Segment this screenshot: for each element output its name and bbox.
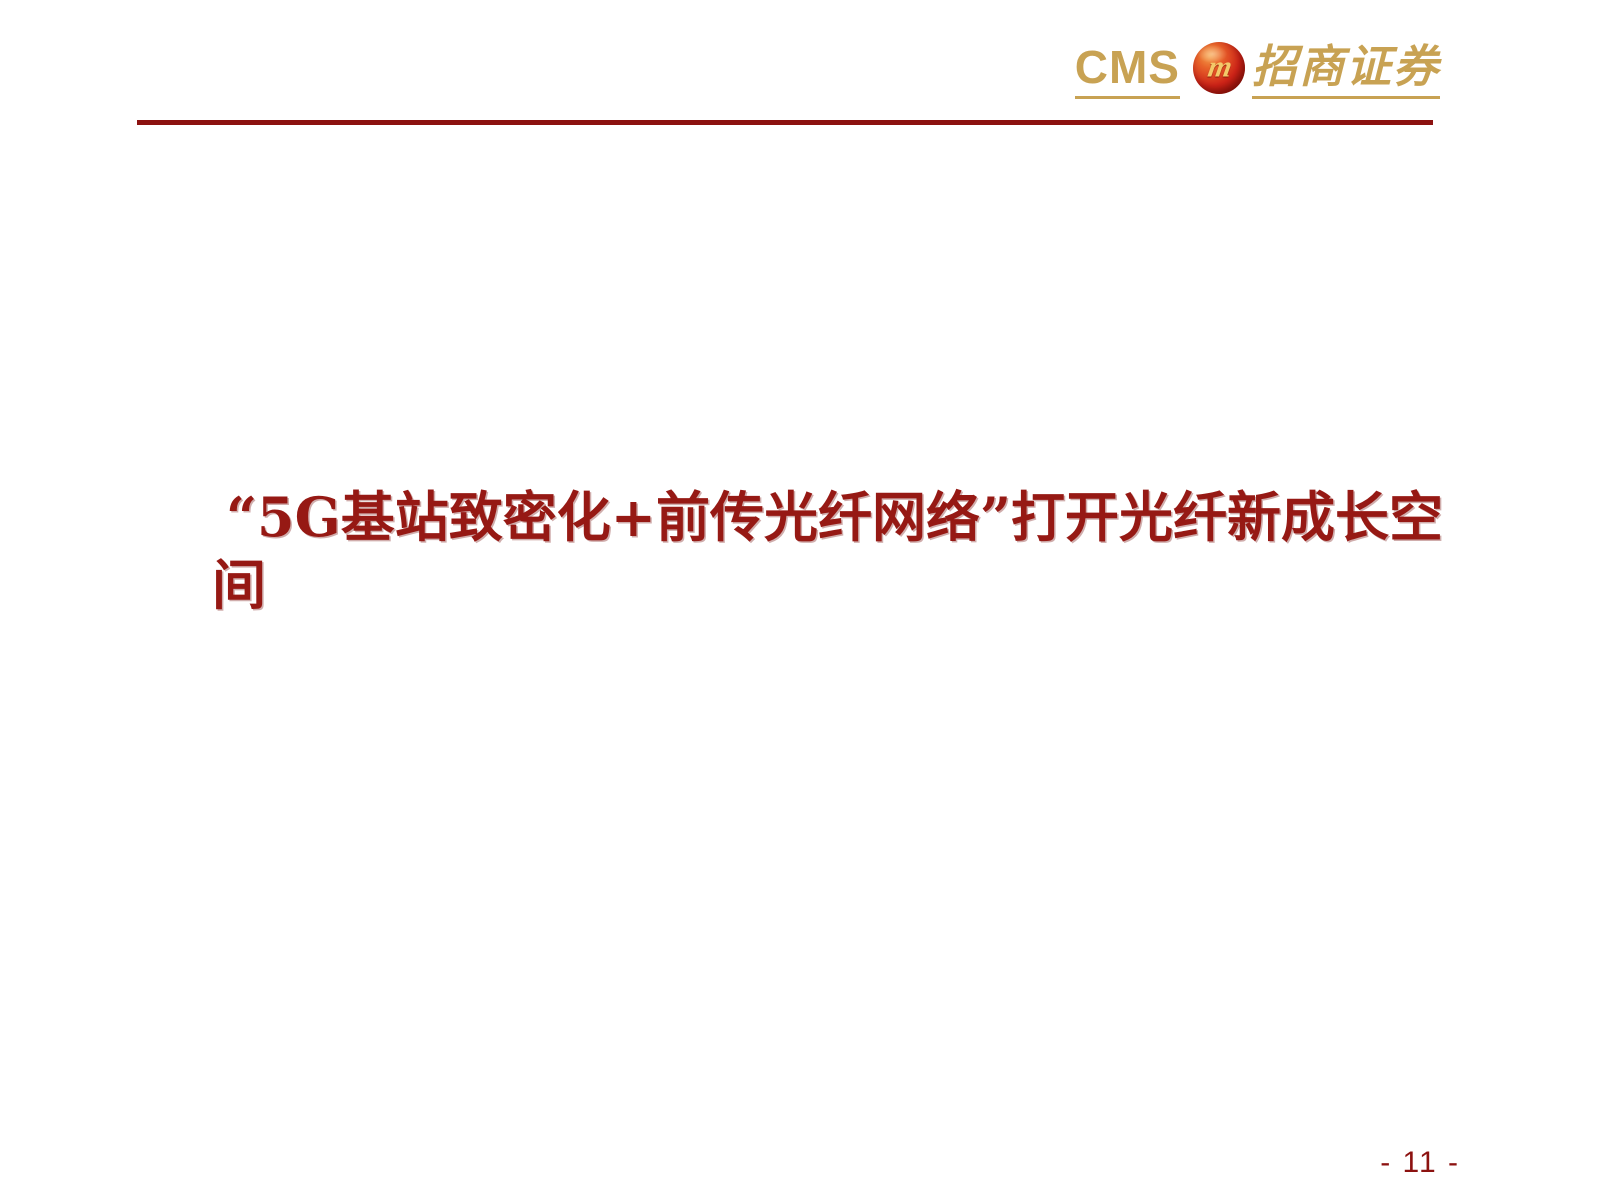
header-divider bbox=[137, 120, 1433, 125]
logo-latin-group: CMS bbox=[1075, 43, 1180, 99]
logo-chinese-text: 招商证券 bbox=[1252, 43, 1440, 91]
logo-mark-highlight bbox=[1198, 45, 1227, 63]
page-title: “5G基站致密化+前传光纤网络”打开光纤新成长空间 bbox=[212, 483, 1457, 619]
brand-logo: CMS m 招商证券 bbox=[1088, 38, 1440, 104]
title-container: “5G基站致密化+前传光纤网络”打开光纤新成长空间 bbox=[212, 483, 1457, 619]
slide-root: CMS m 招商证券 “5G基站致密化+前传光纤网络”打开光纤新成长空间 - 1… bbox=[0, 0, 1600, 1200]
logo-chinese-group: 招商证券 bbox=[1252, 43, 1440, 99]
logo-chinese-underline bbox=[1252, 96, 1440, 99]
logo-latin-underline bbox=[1075, 96, 1180, 99]
logo-latin-text: CMS bbox=[1075, 43, 1180, 91]
cms-sphere-logo-icon: m bbox=[1193, 42, 1245, 94]
page-number: - 11 - bbox=[1380, 1146, 1460, 1180]
